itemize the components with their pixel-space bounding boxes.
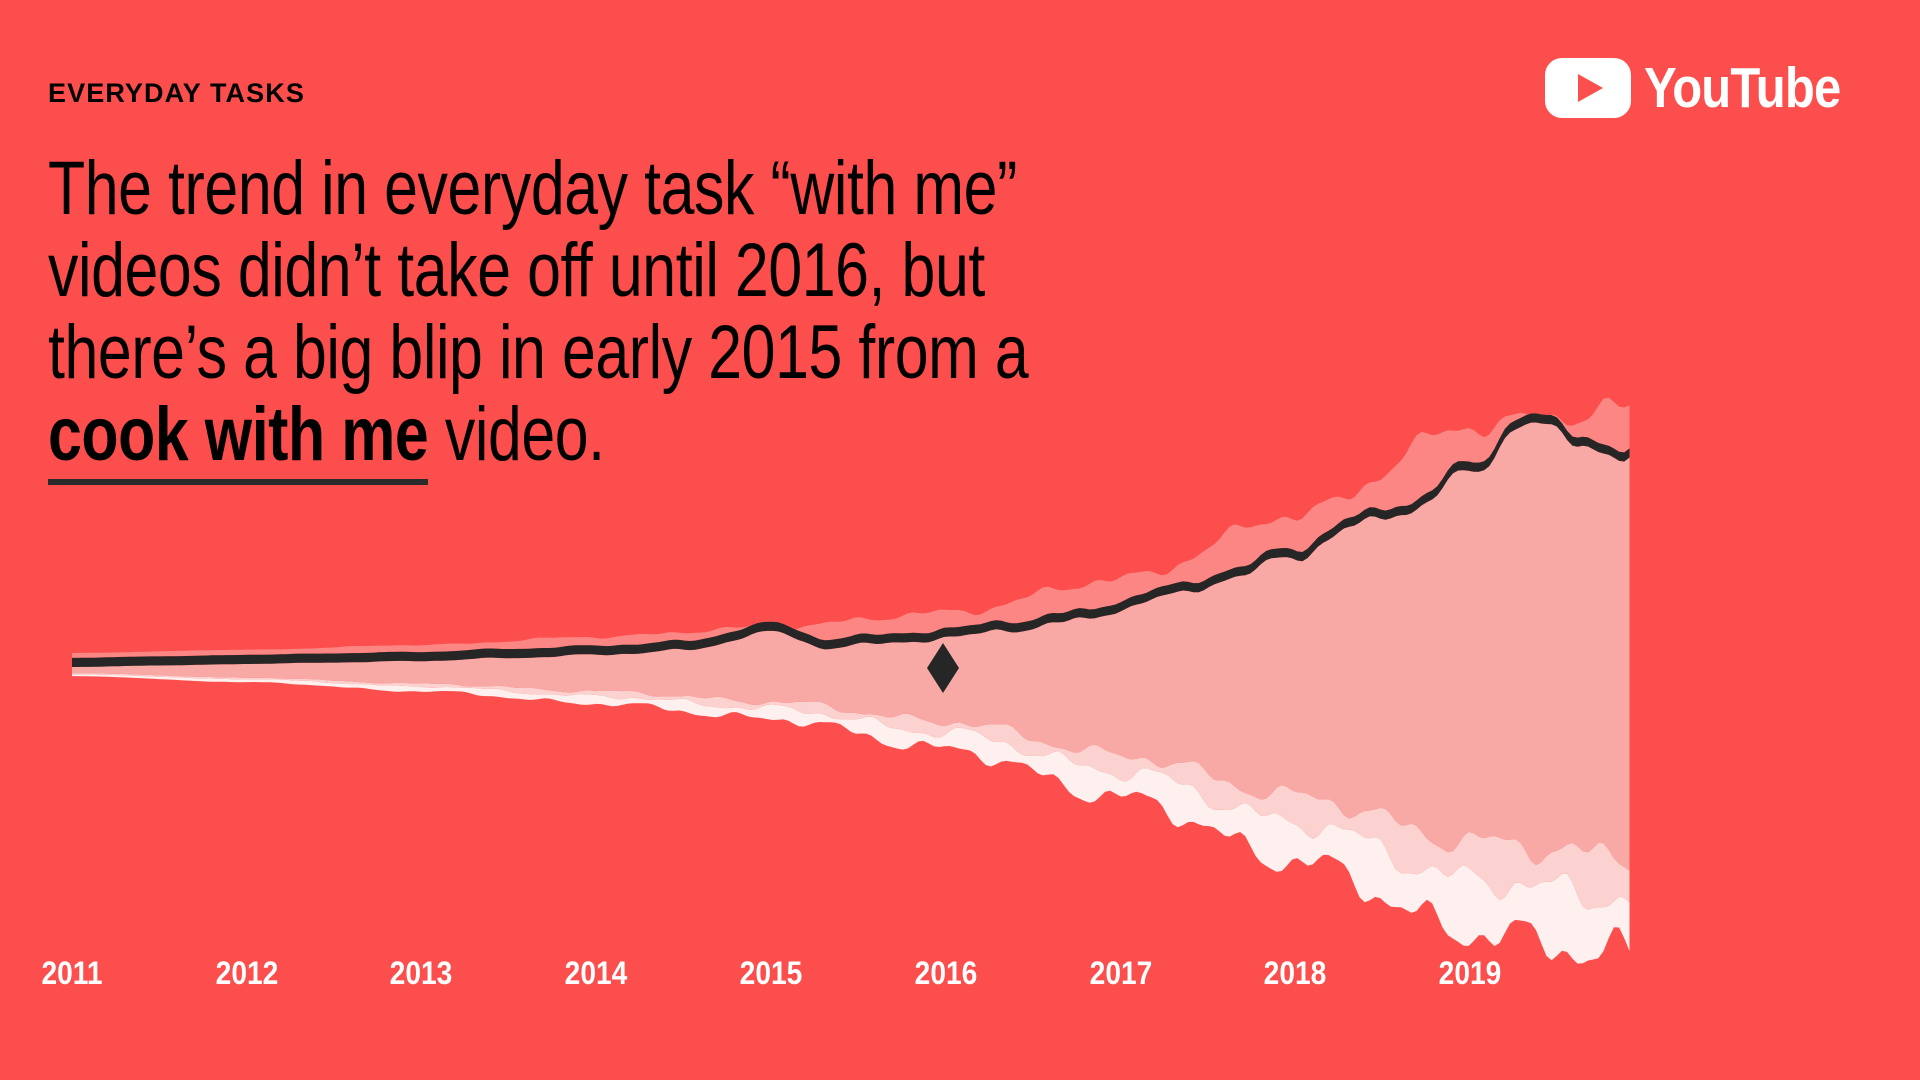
x-axis: 201120122013201420152016201720182019 [0,955,1920,1011]
headline: The trend in everyday task “with me” vid… [48,148,1148,476]
headline-line-4-rest: video. [428,392,604,477]
x-tick-2014: 2014 [565,955,628,992]
headline-line-4: cook with me video. [48,394,928,476]
x-tick-2011: 2011 [41,955,102,992]
youtube-play-icon [1545,58,1631,118]
youtube-logo[interactable]: YouTube [1545,58,1872,118]
x-tick-2019: 2019 [1439,955,1502,992]
x-tick-2016: 2016 [915,955,978,992]
headline-line-1: The trend in everyday task “with me” [48,148,928,230]
x-tick-2017: 2017 [1090,955,1153,992]
headline-emphasis: cook with me [48,392,428,485]
x-tick-2018: 2018 [1264,955,1327,992]
headline-line-3: there’s a big blip in early 2015 from a [48,312,928,394]
headline-line-2: videos didn’t take off until 2016, but [48,230,928,312]
x-tick-2013: 2013 [390,955,453,992]
x-tick-2015: 2015 [740,955,803,992]
infographic-canvas: EVERYDAY TASKS YouTube The trend in ever… [0,0,1920,1080]
eyebrow-label: EVERYDAY TASKS [48,78,305,109]
youtube-wordmark: YouTube [1644,60,1840,117]
x-tick-2012: 2012 [216,955,279,992]
